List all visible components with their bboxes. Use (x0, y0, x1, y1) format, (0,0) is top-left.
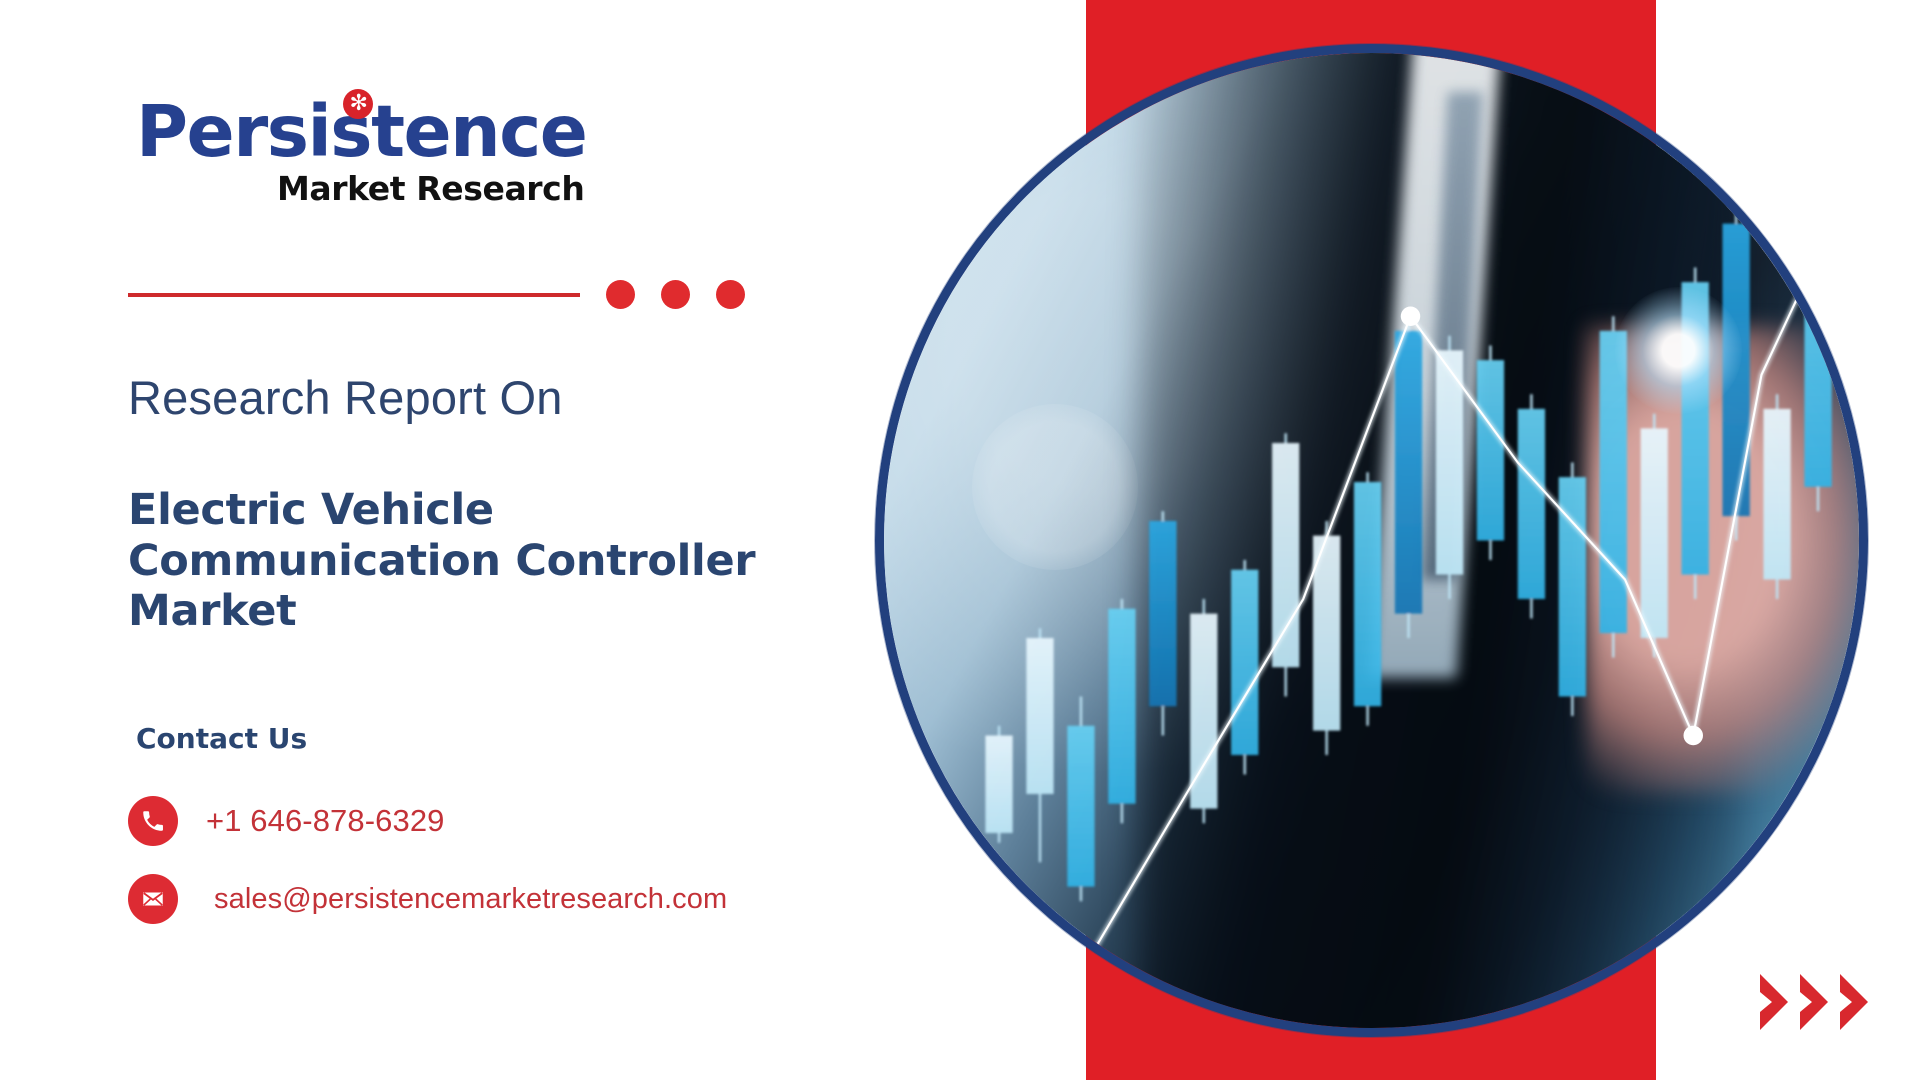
logo-star-glyph: ✻ (350, 93, 367, 115)
divider (128, 280, 745, 309)
trend-marker-low (1684, 726, 1704, 746)
logo-tagline: Market Research (136, 169, 586, 208)
logo-wordmark: Persistence ✻ (136, 96, 586, 167)
envelope-icon (128, 874, 178, 924)
company-logo: Persistence ✻ Market Research (136, 96, 586, 208)
contact-heading: Contact Us (136, 722, 307, 755)
chevron-right-icon-2 (1796, 972, 1832, 1032)
trend-marker-high (1401, 307, 1421, 327)
report-kicker: Research Report On (128, 370, 563, 425)
contact-email-row[interactable]: sales@persistencemarketresearch.com (128, 874, 727, 924)
content-column: Persistence ✻ Market Research Research R… (0, 0, 1086, 1080)
phone-number[interactable]: +1 646-878-6329 (206, 803, 445, 839)
chevron-arrows (1756, 972, 1872, 1032)
phone-icon (128, 796, 178, 846)
divider-dot-2 (661, 280, 690, 309)
report-banner: Persistence ✻ Market Research Research R… (0, 0, 1920, 1080)
chevron-right-icon-1 (1756, 972, 1792, 1032)
divider-dot-3 (716, 280, 745, 309)
divider-dot-1 (606, 280, 635, 309)
chevron-right-icon-3 (1836, 972, 1872, 1032)
email-address[interactable]: sales@persistencemarketresearch.com (214, 883, 727, 916)
divider-line (128, 293, 580, 297)
report-title: Electric Vehicle Communication Controlle… (128, 485, 848, 637)
finger-glow (1615, 287, 1742, 414)
logo-star-icon: ✻ (343, 89, 373, 119)
contact-phone-row[interactable]: +1 646-878-6329 (128, 796, 445, 846)
